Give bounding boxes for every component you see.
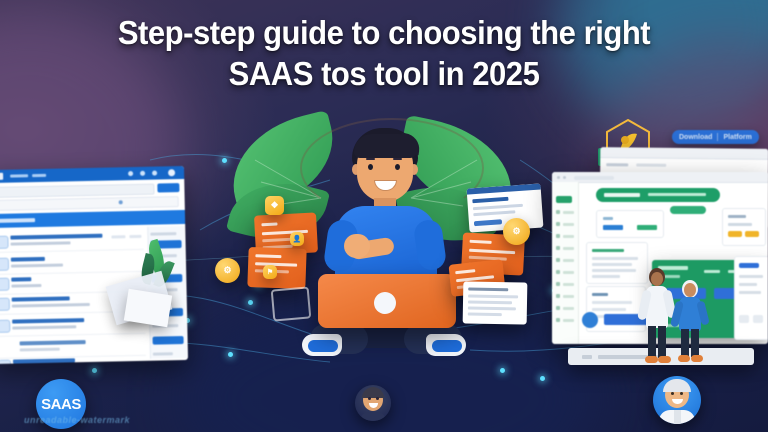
table-row[interactable] bbox=[0, 229, 144, 253]
paper-sheet bbox=[124, 289, 172, 327]
cta-pill-right-label: Platform bbox=[723, 134, 751, 141]
app-logo-icon bbox=[0, 173, 3, 180]
row-icon bbox=[0, 258, 9, 271]
filter-bar[interactable] bbox=[0, 196, 179, 211]
bell-icon[interactable] bbox=[128, 171, 133, 176]
row-icon bbox=[0, 278, 10, 291]
app-logo-icon bbox=[556, 196, 572, 203]
avatar[interactable] bbox=[168, 169, 175, 176]
floating-window[interactable] bbox=[463, 281, 528, 324]
row-icon bbox=[0, 236, 9, 249]
side-button[interactable] bbox=[153, 336, 184, 345]
right-rail[interactable] bbox=[734, 256, 768, 340]
person-blue-top bbox=[674, 280, 706, 364]
fab-button[interactable] bbox=[582, 312, 598, 328]
tag-icon[interactable]: ⚑ bbox=[263, 265, 277, 279]
laptop-logo bbox=[374, 292, 396, 314]
right-avatar[interactable] bbox=[653, 376, 701, 424]
primary-button[interactable] bbox=[157, 183, 179, 192]
center-avatar[interactable] bbox=[355, 385, 391, 421]
page-title: Step-step guide to choosing the right SA… bbox=[23, 12, 745, 95]
settings-icon[interactable]: ⚙ bbox=[215, 258, 240, 283]
stat-card[interactable] bbox=[596, 210, 664, 238]
row-icon bbox=[0, 298, 10, 311]
shield-icon[interactable]: ⚙ bbox=[503, 218, 530, 245]
title-line-2: SAAS tos tool in 2025 bbox=[23, 53, 745, 94]
banner-cta-button[interactable] bbox=[670, 206, 706, 214]
character-illustration bbox=[300, 128, 470, 360]
list-card[interactable] bbox=[586, 242, 648, 284]
menu-item[interactable] bbox=[32, 174, 46, 177]
cta-pill-left-label: Download bbox=[679, 134, 712, 141]
table-row[interactable] bbox=[0, 353, 146, 364]
browser-chrome bbox=[552, 172, 768, 183]
share-icon[interactable]: ❖ bbox=[265, 196, 284, 215]
search-icon bbox=[119, 200, 123, 204]
hero-banner: Step-step guide to choosing the right SA… bbox=[0, 0, 768, 432]
orange-card[interactable] bbox=[247, 247, 306, 289]
section-header bbox=[0, 210, 185, 228]
promo-banner[interactable] bbox=[596, 188, 720, 202]
watermark-text: unreadable-watermark bbox=[24, 415, 130, 425]
search-input[interactable] bbox=[0, 184, 155, 198]
title-line-1: Step-step guide to choosing the right bbox=[118, 14, 650, 51]
stat-card[interactable] bbox=[722, 208, 766, 246]
grid-icon[interactable] bbox=[152, 171, 157, 176]
row-icon bbox=[0, 360, 11, 364]
saas-logo-label: SAAS bbox=[41, 396, 81, 413]
help-icon[interactable] bbox=[140, 171, 145, 176]
row-icon bbox=[0, 320, 10, 333]
person-lab-coat bbox=[640, 268, 674, 364]
menu-item[interactable] bbox=[10, 174, 28, 177]
green-sidebar bbox=[552, 182, 579, 344]
cta-pill[interactable]: Download Platform bbox=[672, 130, 759, 144]
